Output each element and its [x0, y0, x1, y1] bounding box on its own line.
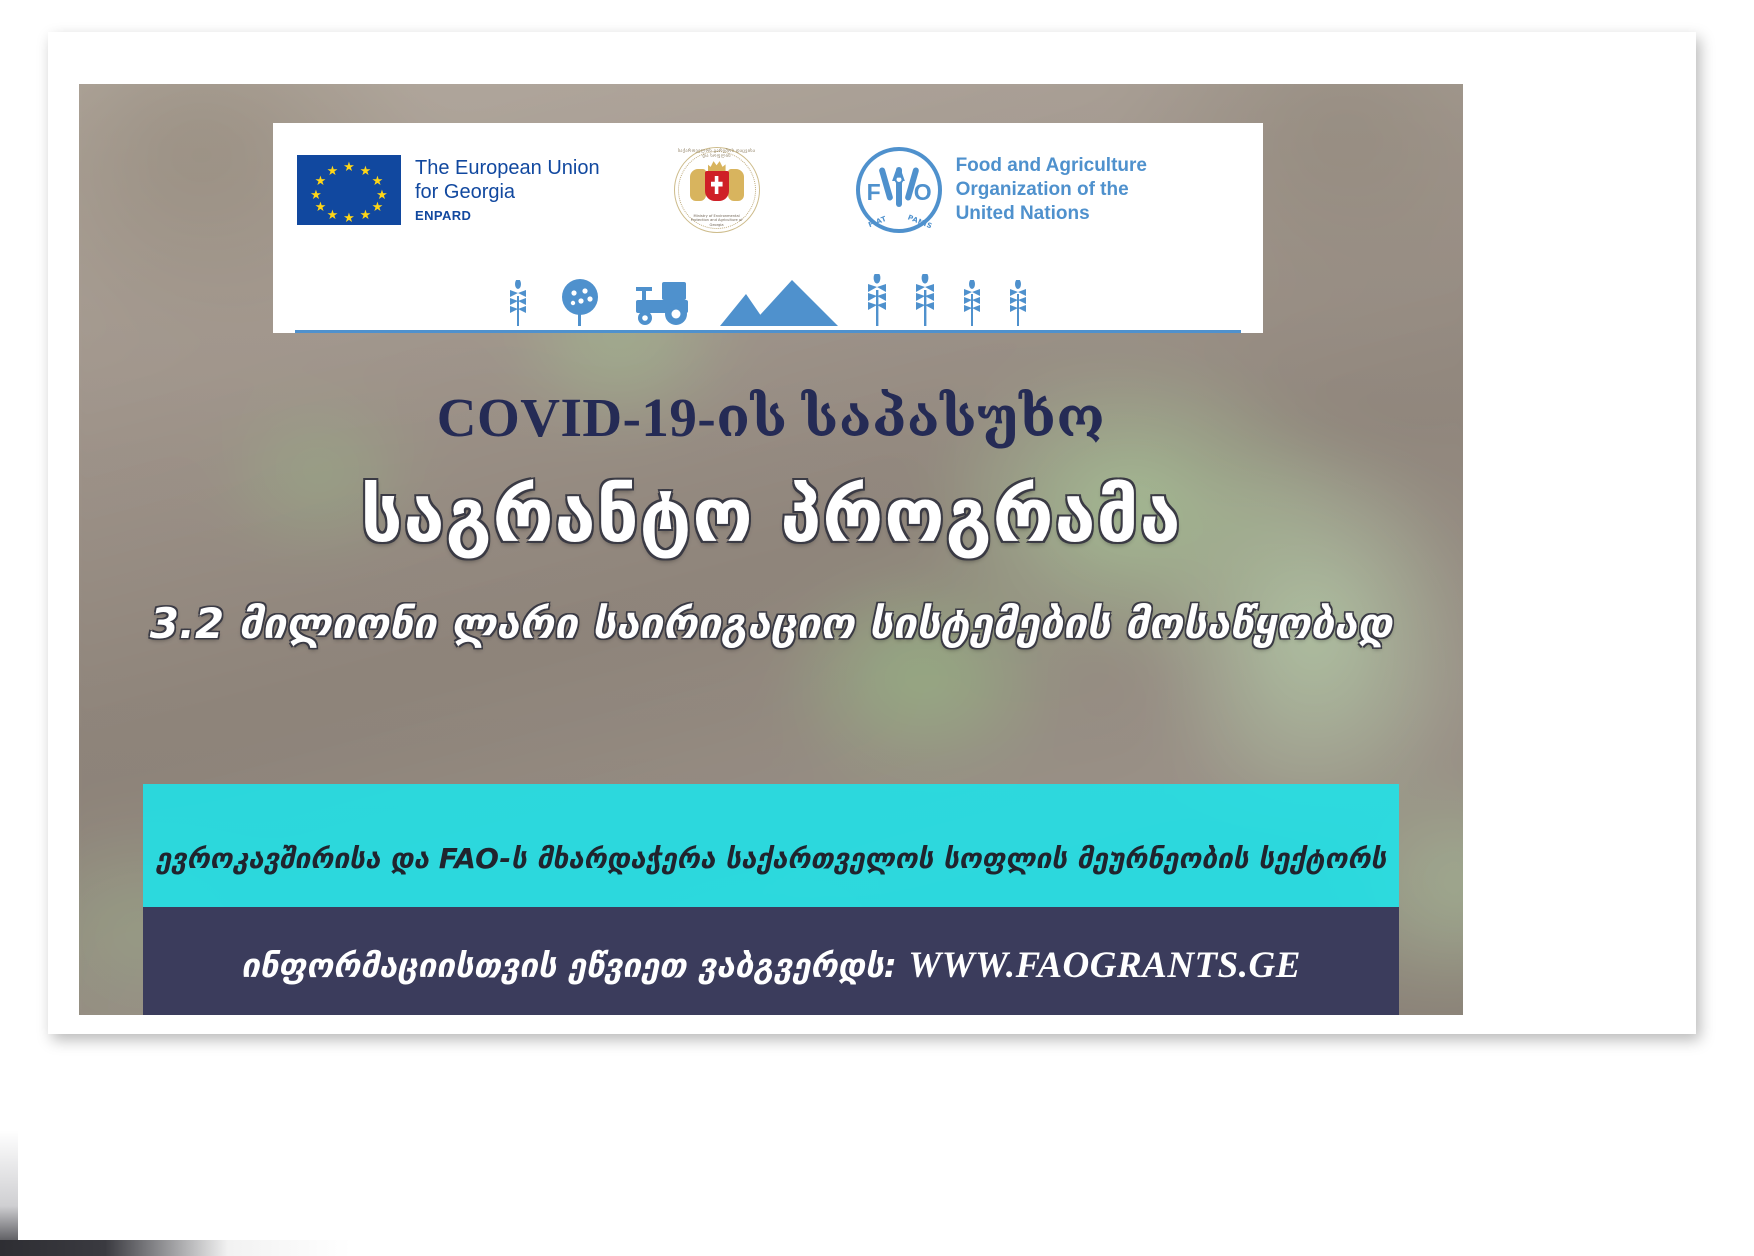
fao-line2: Organization of the	[956, 178, 1147, 202]
headline-block: COVID-19-ის საპასუხო საგრანტო პროგრამა 3…	[79, 384, 1463, 648]
pictogram-strip	[295, 243, 1241, 333]
scan-edge-bottom	[0, 1240, 1754, 1256]
fao-logo-text: Food and Agriculture Organization of the…	[956, 154, 1147, 226]
wheat-ear-icon	[962, 280, 982, 326]
seal-shield-icon	[705, 171, 729, 201]
fao-line1: Food and Agriculture	[956, 154, 1147, 178]
seal-caption: Ministry of Environmental Protection and…	[686, 214, 748, 227]
fao-logo-block: F A O FIAT PANIS Food and Agriculture Or…	[856, 147, 1147, 233]
fao-letter-f: F	[867, 179, 881, 206]
wheat-ear-icon	[1008, 280, 1028, 326]
covid-response-title: COVID-19-ის საპასუხო	[79, 384, 1463, 449]
eu-line1: The European Union	[415, 156, 600, 180]
eu-flag-icon: ★ ★ ★ ★ ★ ★ ★ ★ ★ ★ ★ ★	[297, 155, 401, 225]
fao-emblem-icon: F A O FIAT PANIS	[856, 147, 942, 233]
fao-letter-o: O	[914, 179, 932, 206]
wheat-ear-icon	[508, 280, 528, 326]
grant-program-title: საგრანტო პროგრამა	[79, 473, 1463, 559]
eu-line3-enpard: ENPARD	[415, 208, 600, 224]
seal-arc-text: საქართველოს გარემოს დაცვისა და სოფლის	[677, 149, 757, 159]
website-prompt: ინფორმაციისთვის ეწვიეთ ვაბგვერდს: WWW.FA…	[241, 944, 1301, 987]
poster: ★ ★ ★ ★ ★ ★ ★ ★ ★ ★ ★ ★	[48, 32, 1696, 1034]
fao-line3: United Nations	[956, 202, 1147, 226]
fruit-tree-icon	[554, 278, 606, 326]
seal-lion-right-icon	[728, 169, 744, 201]
support-statement-text: ევროკავშირისა და FAO-ს მხარდაჭერა საქართ…	[156, 842, 1387, 875]
website-band: ინფორმაციისთვის ეწვიეთ ვაბგვერდს: WWW.FA…	[143, 907, 1399, 1015]
grant-amount-subtitle: 3.2 მილიონი ლარი საირიგაციო სისტემების მ…	[79, 599, 1463, 648]
logo-bar: ★ ★ ★ ★ ★ ★ ★ ★ ★ ★ ★ ★	[273, 123, 1263, 333]
website-prompt-text: ინფორმაციისთვის ეწვიეთ ვაბგვერდს:	[241, 946, 897, 985]
seal-lion-left-icon	[690, 169, 706, 201]
tractor-icon	[632, 278, 694, 326]
wheat-ear-icon	[866, 274, 888, 326]
logos-row: ★ ★ ★ ★ ★ ★ ★ ★ ★ ★ ★ ★	[273, 123, 1263, 243]
eu-logo-text: The European Union for Georgia ENPARD	[415, 156, 600, 225]
scan-edge-left	[0, 0, 18, 1256]
website-url[interactable]: WWW.FAOGRANTS.GE	[908, 945, 1301, 986]
scanned-page: ★ ★ ★ ★ ★ ★ ★ ★ ★ ★ ★ ★	[0, 0, 1754, 1256]
georgia-coat-of-arms-icon: საქართველოს გარემოს დაცვისა და სოფლის Mi…	[674, 147, 760, 233]
mountains-icon	[720, 278, 840, 326]
support-statement-band: ევროკავშირისა და FAO-ს მხარდაჭერა საქართ…	[143, 784, 1399, 907]
eu-logo-block: ★ ★ ★ ★ ★ ★ ★ ★ ★ ★ ★ ★	[297, 155, 600, 225]
eu-line2: for Georgia	[415, 180, 600, 204]
fao-letter-a: A	[892, 165, 906, 187]
poster-photo-background: ★ ★ ★ ★ ★ ★ ★ ★ ★ ★ ★ ★	[79, 84, 1463, 1015]
wheat-ear-icon	[914, 274, 936, 326]
